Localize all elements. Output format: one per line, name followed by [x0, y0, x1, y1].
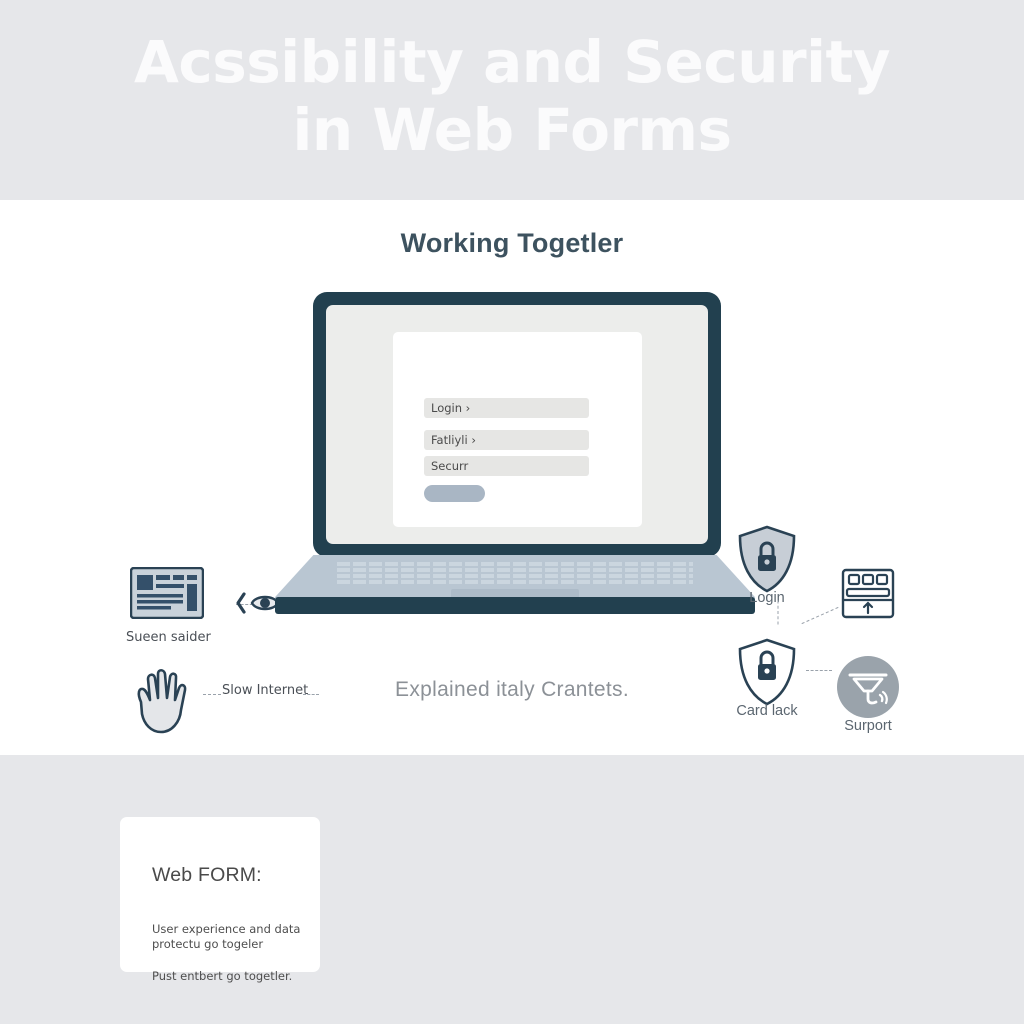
security-field[interactable]: Securr [424, 456, 589, 476]
shield-lock-icon-login [737, 525, 797, 593]
connector-line-login-server [802, 607, 839, 624]
page-title: Acssibility and Security in Web Forms [0, 28, 1024, 164]
info-card-body-line-2: protectu go togeler [152, 937, 312, 952]
password-field[interactable]: Fatliyli › [424, 430, 589, 450]
keyboard-row [337, 580, 693, 584]
keyboard-row [337, 562, 693, 566]
page-title-line-2: in Web Forms [0, 96, 1024, 164]
illustration-stage: Working Togetler Sueen saider [0, 200, 1024, 755]
stage-caption: Explained italy Crantets. [0, 678, 1024, 702]
laptop-screen: Login › Fatliyli › Securr [326, 305, 708, 544]
web-form-card: Login › Fatliyli › Securr [393, 332, 642, 527]
login-field[interactable]: Login › [424, 398, 589, 418]
info-card-body-line-1: User experience and data [152, 922, 312, 937]
laptop-keyboard [337, 562, 693, 587]
server-rack-icon [840, 568, 896, 620]
info-card-body-line-3: Pust entbert go togetler. [152, 969, 312, 984]
stage-heading: Working Togetler [0, 228, 1024, 259]
web-form-info-card: Web FORM: User experience and data prote… [120, 817, 320, 972]
laptop-lid: Login › Fatliyli › Securr [313, 292, 721, 557]
connector-line-card-support [806, 670, 832, 671]
page-title-line-1: Acssibility and Security [134, 28, 890, 96]
laptop-base-front-edge [275, 597, 755, 614]
keyboard-row [337, 574, 693, 578]
shield-card-label: Card lack [716, 703, 818, 719]
keyboard-row [337, 568, 693, 572]
info-card-body: User experience and data protectu go tog… [152, 922, 312, 984]
connector-line-login-card [778, 601, 779, 625]
wireframe-layout-icon [130, 567, 204, 619]
laptop-illustration: Login › Fatliyli › Securr [275, 292, 755, 622]
screen-reader-label: Sueen saider [126, 630, 211, 645]
header-band: Acssibility and Security in Web Forms [0, 0, 1024, 200]
bottom-band: Web FORM: User experience and data prote… [0, 755, 1024, 1024]
poster-root: Acssibility and Security in Web Forms Wo… [0, 0, 1024, 1024]
info-card-title: Web FORM: [152, 864, 262, 887]
shield-login-label: Login [727, 590, 807, 606]
support-label: Surport [826, 718, 910, 734]
submit-button[interactable] [424, 485, 485, 502]
